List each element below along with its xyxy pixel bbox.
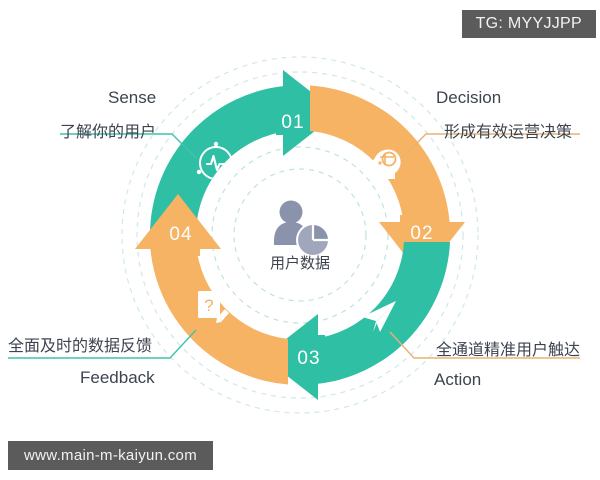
segment-04-feedback[interactable]: 04	[135, 194, 288, 385]
cycle-diagram: 01 02 03 04	[0, 0, 600, 480]
segment-01-number: 01	[281, 112, 304, 133]
segment-02-number: 02	[410, 223, 433, 244]
label-sense-cn: 了解你的用户	[60, 118, 156, 142]
svg-text:?: ?	[204, 296, 213, 315]
label-sense-en: Sense	[108, 88, 156, 108]
diagram-canvas: 01 02 03 04	[0, 0, 600, 480]
label-action-cn: 全通道精准用户触达	[436, 336, 580, 360]
label-feedback-cn: 全面及时的数据反馈	[8, 332, 152, 356]
telegram-watermark-badge: TG: MYYJJPP	[462, 10, 596, 38]
label-feedback-en: Feedback	[80, 368, 155, 388]
segment-04-number: 04	[169, 224, 192, 245]
user-pie-chart-icon	[274, 201, 330, 258]
label-decision-cn: 形成有效运营决策	[444, 118, 572, 142]
label-decision-en: Decision	[436, 88, 501, 108]
center-label: 用户数据	[0, 252, 600, 273]
label-action-en: Action	[434, 370, 481, 390]
url-watermark-badge: www.main-m-kaiyun.com	[8, 441, 213, 470]
segment-03-number: 03	[297, 348, 320, 369]
